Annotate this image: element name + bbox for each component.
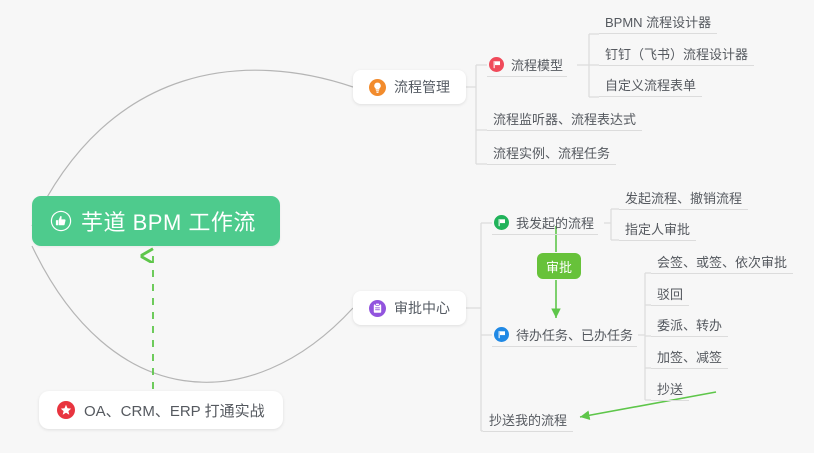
leaf-node-label: 抄送 [657,379,683,398]
link-cc-to-cc-to-me [580,392,716,417]
branch-node-approval-center[interactable]: 审批中心 [353,291,466,325]
sub-node-label: 我发起的流程 [516,213,594,232]
link-root-to-approval-center [32,246,353,382]
leaf-node-dingtalk-feishu-designer[interactable]: 钉钉（飞书）流程设计器 [599,42,754,66]
leaf-node-label: BPMN 流程设计器 [605,12,711,31]
root-node[interactable]: 芋道 BPM 工作流 [32,196,280,246]
leaf-node-label: 加签、减签 [657,347,722,366]
leaf-node-custom-process-form[interactable]: 自定义流程表单 [599,73,702,97]
thumbs-up-icon [50,210,72,232]
branch-node-label: 流程管理 [394,77,450,97]
leaf-node-countersign-orsign-sequential[interactable]: 会签、或签、依次审批 [651,250,793,274]
branch-node-label: 审批中心 [394,298,450,318]
leaf-node-label: 会签、或签、依次审批 [657,252,787,271]
mindmap-canvas: 芋道 BPM 工作流 流程管理 流程模型 BPMN 流程设计器 钉钉（飞书）流程 [0,0,814,453]
approval-badge-label: 审批 [546,257,572,276]
leaf-node-cc[interactable]: 抄送 [651,377,689,401]
leaf-node-label: 抄送我的流程 [489,410,567,429]
leaf-node-label: 发起流程、撤销流程 [625,188,742,207]
flag-icon [489,57,504,72]
leaf-node-label: 钉钉（飞书）流程设计器 [605,44,748,63]
leaf-node-label: 委派、转办 [657,315,722,334]
leaf-node-delegate-transfer[interactable]: 委派、转办 [651,313,728,337]
star-icon [57,401,75,419]
clipboard-icon [369,300,386,317]
flag-icon [494,327,509,342]
leaf-node-start-cancel-process[interactable]: 发起流程、撤销流程 [619,186,748,210]
leaf-node-add-remove-sign[interactable]: 加签、减签 [651,345,728,369]
sub-node-label: 待办任务、已办任务 [516,325,633,344]
leaf-node-label: 自定义流程表单 [605,75,696,94]
leaf-node-reject[interactable]: 驳回 [651,282,689,306]
branch-node-process-management[interactable]: 流程管理 [353,70,466,104]
root-node-label: 芋道 BPM 工作流 [81,205,256,237]
leaf-node-process-instance-task[interactable]: 流程实例、流程任务 [487,141,616,165]
sub-node-label: 流程模型 [511,55,563,74]
sub-node-todo-done-tasks[interactable]: 待办任务、已办任务 [492,323,637,347]
leaf-node-label: 流程监听器、流程表达式 [493,109,636,128]
sub-node-process-model[interactable]: 流程模型 [487,53,567,77]
integration-card[interactable]: OA、CRM、ERP 打通实战 [39,391,283,429]
leaf-node-cc-to-me-process[interactable]: 抄送我的流程 [483,408,573,432]
lightbulb-icon [369,79,386,96]
leaf-node-designated-approver[interactable]: 指定人审批 [619,217,696,241]
integration-card-label: OA、CRM、ERP 打通实战 [84,400,265,421]
leaf-node-bpmn-designer[interactable]: BPMN 流程设计器 [599,10,717,34]
leaf-node-process-listener-expression[interactable]: 流程监听器、流程表达式 [487,107,642,131]
leaf-node-label: 驳回 [657,284,683,303]
leaf-node-label: 流程实例、流程任务 [493,143,610,162]
flag-icon [494,215,509,230]
sub-node-my-initiated-process[interactable]: 我发起的流程 [492,211,598,235]
approval-badge[interactable]: 审批 [537,253,581,279]
leaf-node-label: 指定人审批 [625,219,690,238]
